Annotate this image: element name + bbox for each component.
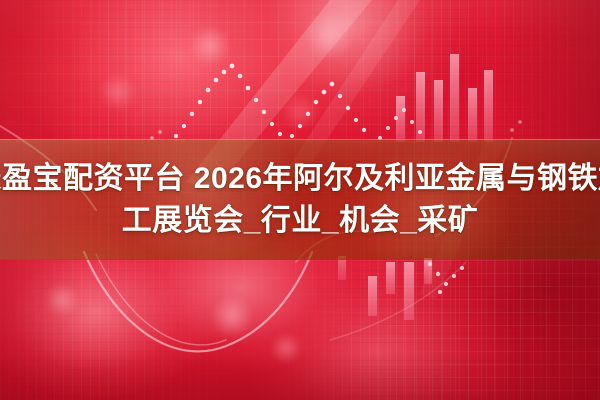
gold-band-top-edge bbox=[0, 139, 600, 140]
gold-band-bottom-edge bbox=[0, 259, 600, 260]
gold-band-sheen bbox=[0, 139, 600, 260]
promo-banner: 长盈宝配资平台 2026年阿尔及利亚金属与钢铁加 工展览会_行业_机会_采矿 bbox=[0, 0, 600, 400]
